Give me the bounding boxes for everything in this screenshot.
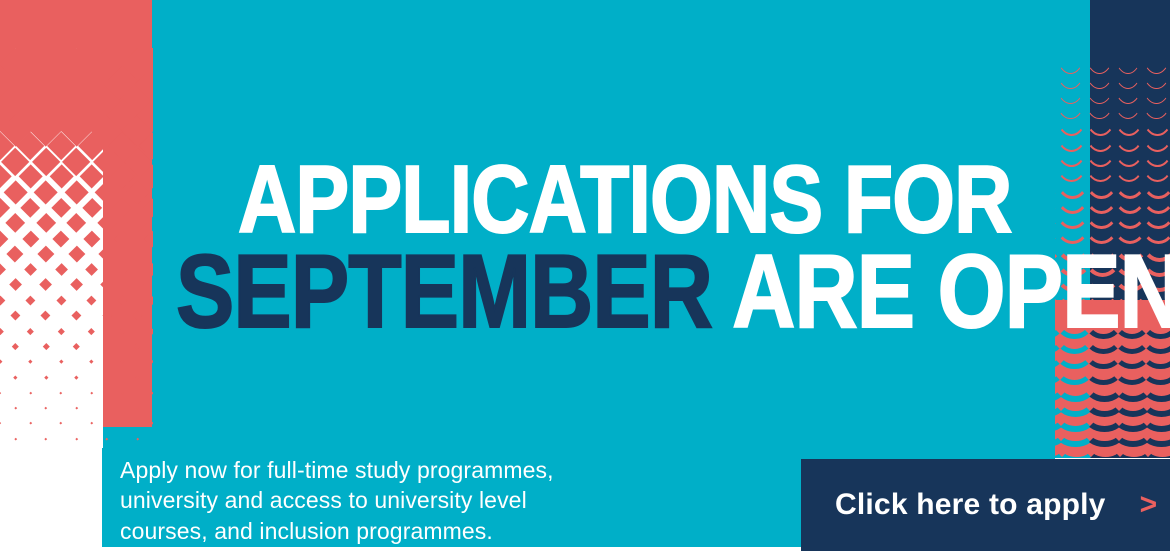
apply-cta-button[interactable]: Click here to apply > [801, 459, 1170, 551]
diamond-shape [106, 438, 108, 440]
diamond-shape [118, 295, 128, 305]
headline-line-2: SEPTEMBER ARE OPEN! [176, 249, 898, 336]
diamond-shape [102, 311, 112, 321]
diamond-shape [145, 230, 153, 247]
diamond-shape [127, 213, 147, 233]
diamond-shape [146, 263, 153, 276]
apply-cta-label: Click here to apply [835, 488, 1106, 522]
headline: APPLICATIONS FOR SEPTEMBER ARE OPEN! [176, 160, 1036, 336]
headline-month: SEPTEMBER [176, 234, 712, 350]
diamond-shape [121, 391, 123, 393]
body-copy-line-3: courses, and inclusion programmes. [120, 516, 680, 546]
diamond-shape [152, 422, 153, 424]
diamond-shape [121, 360, 125, 364]
diamond-shape [133, 311, 143, 321]
diamond-shape [129, 246, 146, 263]
diamond-shape [148, 295, 153, 305]
diamond-halftone-pattern [0, 48, 153, 448]
chevron-right-icon: > [1140, 488, 1158, 522]
diamond-shape [106, 407, 108, 409]
diamond-shape [125, 180, 150, 205]
diamond-shape [151, 360, 153, 364]
diamond-shape [114, 230, 131, 247]
body-copy-line-1: Apply now for full-time study programmes… [120, 455, 680, 485]
diamond-shape [112, 198, 132, 218]
promo-banner: APPLICATIONS FOR SEPTEMBER ARE OPEN! App… [0, 0, 1170, 551]
headline-status: ARE OPEN! [732, 234, 1170, 350]
diamond-shape [137, 438, 139, 440]
diamond-shape [143, 198, 153, 218]
diamond-shape [116, 263, 129, 276]
diamond-shape [134, 343, 141, 350]
diamond-shape [150, 328, 153, 335]
body-copy: Apply now for full-time study programmes… [120, 455, 680, 546]
diamond-shape [136, 375, 140, 379]
diamond-shape [137, 407, 139, 409]
headline-line-1: APPLICATIONS FOR [238, 160, 908, 241]
body-copy-line-2: university and access to university leve… [120, 485, 680, 515]
diamond-shape [105, 375, 109, 379]
diamond-shape [104, 343, 111, 350]
diamond-shape [121, 422, 123, 424]
diamond-shape [131, 278, 144, 291]
diamond-shape [30, 391, 32, 393]
diamond-shape [14, 438, 16, 440]
diamond-shape [152, 391, 153, 393]
diamond-shape [119, 328, 126, 335]
